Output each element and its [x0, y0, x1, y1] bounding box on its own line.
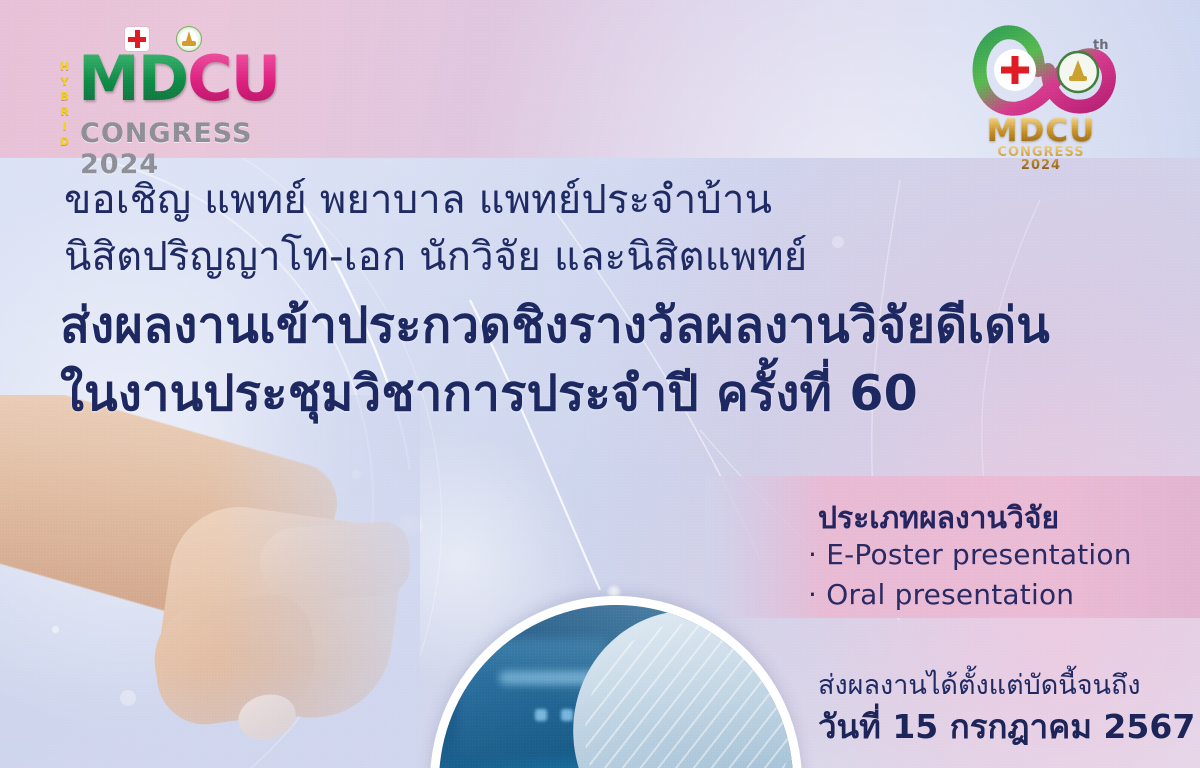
texture-overlay [0, 0, 1200, 768]
poster-canvas: HYBRID MDCU CONGRESS 2024 [0, 0, 1200, 768]
